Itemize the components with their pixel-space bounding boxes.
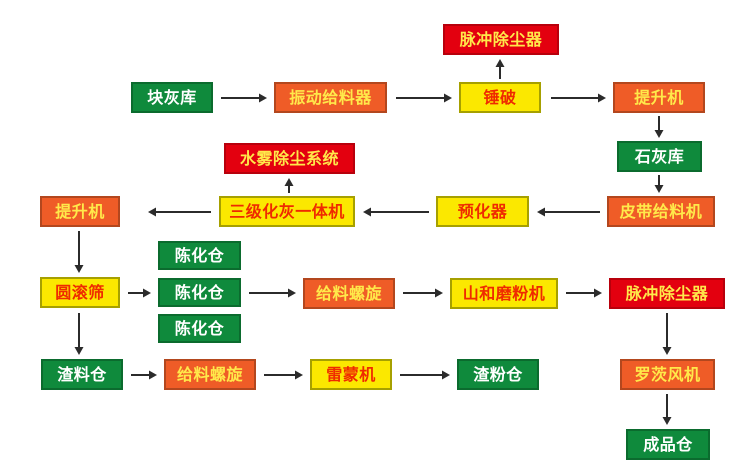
flow-node-n15[interactable]: 给料螺旋 xyxy=(303,278,395,309)
flow-node-label: 山和磨粉机 xyxy=(463,286,546,302)
flow-arrow-n02-to-n03 xyxy=(209,86,279,110)
flow-node-n11[interactable]: 皮带给料机 xyxy=(607,196,715,227)
flow-node-n01[interactable]: 脉冲除尘器 xyxy=(443,24,559,55)
flow-arrow-n08-to-n13 xyxy=(67,219,91,285)
flow-node-label: 给料螺旋 xyxy=(316,286,382,302)
flow-node-n17[interactable]: 脉冲除尘器 xyxy=(609,278,725,309)
flow-arrow-n09-to-n08 xyxy=(136,200,223,224)
flow-node-n13[interactable]: 圆滚筛 xyxy=(40,277,120,308)
flow-node-n24[interactable]: 成品仓 xyxy=(626,429,710,460)
flow-node-n05[interactable]: 提升机 xyxy=(613,82,705,113)
flow-node-label: 渣粉仓 xyxy=(473,367,523,383)
flow-arrow-n03-to-n04 xyxy=(384,86,464,110)
flow-node-n03[interactable]: 振动给料器 xyxy=(274,82,387,113)
flow-node-n19[interactable]: 渣料仓 xyxy=(41,359,123,390)
flow-node-label: 陈化仓 xyxy=(175,285,225,301)
flow-node-label: 提升机 xyxy=(55,204,105,220)
flow-arrow-n13-to-n14 xyxy=(116,281,163,305)
flow-node-label: 雷蒙机 xyxy=(326,367,376,383)
flow-node-n16[interactable]: 山和磨粉机 xyxy=(450,278,558,309)
flow-node-label: 圆滚筛 xyxy=(55,285,105,301)
flow-arrow-n19-to-n20 xyxy=(119,363,169,387)
flow-node-label: 成品仓 xyxy=(643,437,693,453)
flow-node-label: 渣料仓 xyxy=(57,367,107,383)
flow-node-label: 罗茨风机 xyxy=(634,367,700,383)
flow-node-label: 皮带给料机 xyxy=(620,204,703,220)
flow-node-label: 陈化仓 xyxy=(175,248,225,264)
flow-node-label: 三级化灰一体机 xyxy=(229,204,345,220)
flowchart-canvas: 脉冲除尘器块灰库振动给料器锤破提升机石灰库水雾除尘系统提升机三级化灰一体机预化器… xyxy=(0,0,750,476)
flow-arrow-n15-to-n16 xyxy=(391,281,455,305)
flow-node-label: 脉冲除尘器 xyxy=(626,286,709,302)
flow-node-n20[interactable]: 给料螺旋 xyxy=(164,359,256,390)
flow-node-label: 陈化仓 xyxy=(175,321,225,337)
flow-arrow-n17-to-n23 xyxy=(655,301,679,367)
flow-node-label: 振动给料器 xyxy=(289,90,372,106)
flow-node-label: 给料螺旋 xyxy=(177,367,243,383)
flow-node-label: 提升机 xyxy=(634,90,684,106)
flow-arrow-n10-to-n09 xyxy=(351,200,441,224)
flow-node-n04[interactable]: 锤破 xyxy=(459,82,541,113)
flow-arrow-n16-to-n17 xyxy=(554,281,614,305)
flow-node-n14[interactable]: 陈化仓 xyxy=(158,278,241,307)
flow-arrow-n20-to-n21 xyxy=(252,363,315,387)
flow-node-label: 水雾除尘系统 xyxy=(240,151,339,167)
flow-node-label: 脉冲除尘器 xyxy=(460,32,543,48)
flow-node-label: 锤破 xyxy=(483,90,516,106)
flow-node-n10[interactable]: 预化器 xyxy=(436,196,529,227)
flow-node-label: 预化器 xyxy=(458,204,508,220)
flow-node-n09[interactable]: 三级化灰一体机 xyxy=(219,196,355,227)
flow-node-n18[interactable]: 陈化仓 xyxy=(158,314,241,343)
flow-node-n23[interactable]: 罗茨风机 xyxy=(620,359,715,390)
flow-arrow-n21-to-n22 xyxy=(388,363,462,387)
flow-node-n02[interactable]: 块灰库 xyxy=(131,82,213,113)
flow-node-n22[interactable]: 渣粉仓 xyxy=(457,359,539,390)
flow-node-n21[interactable]: 雷蒙机 xyxy=(310,359,392,390)
flow-arrow-n04-to-n05 xyxy=(539,86,618,110)
flow-node-label: 石灰库 xyxy=(635,149,685,165)
flow-node-n07[interactable]: 水雾除尘系统 xyxy=(224,143,355,174)
flow-arrow-n13-to-n19 xyxy=(67,301,91,367)
flow-node-label: 块灰库 xyxy=(147,90,197,106)
flow-node-n12[interactable]: 陈化仓 xyxy=(158,241,241,270)
flow-node-n08[interactable]: 提升机 xyxy=(40,196,120,227)
flow-arrow-n14-to-n15 xyxy=(237,281,308,305)
flow-arrow-n11-to-n10 xyxy=(525,200,612,224)
flow-node-n06[interactable]: 石灰库 xyxy=(617,141,702,172)
